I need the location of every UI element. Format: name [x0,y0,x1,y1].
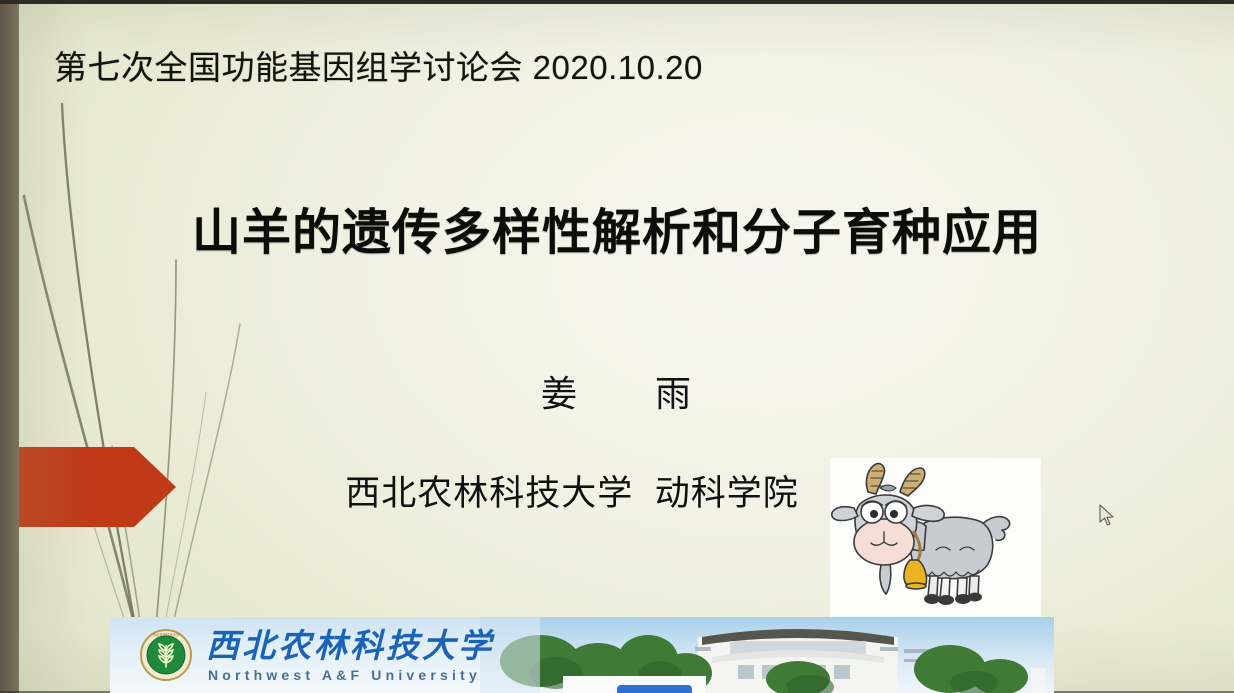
player-primary-button[interactable] [617,685,692,693]
player-side-strip[interactable] [1031,668,1045,693]
top-edge-border [0,0,1234,4]
banner-university-name-cn: 西北农林科技大学 [206,629,494,665]
presenter-name: 姜 雨 [0,371,1234,417]
slide-background [0,0,1234,693]
conference-header: 第七次全国功能基因组学讨论会 2020.10.20 [54,48,703,88]
slide-title: 山羊的遗传多样性解析和分子育种应用 [0,203,1234,263]
presenter-affiliation: 西北农林科技大学 动科学院 [0,471,1234,517]
left-edge-stripe [0,0,19,693]
banner-university-name-en: Northwest A&F University [208,667,481,683]
university-seal-logo: 西北农林科技大学 [140,629,192,681]
svg-text:西北农林科技大学: 西北农林科技大学 [152,632,180,637]
presentation-slide: 第七次全国功能基因组学讨论会 2020.10.20 山羊的遗传多样性解析和分子育… [0,0,1234,693]
cartoon-goat-illustration [830,458,1041,617]
